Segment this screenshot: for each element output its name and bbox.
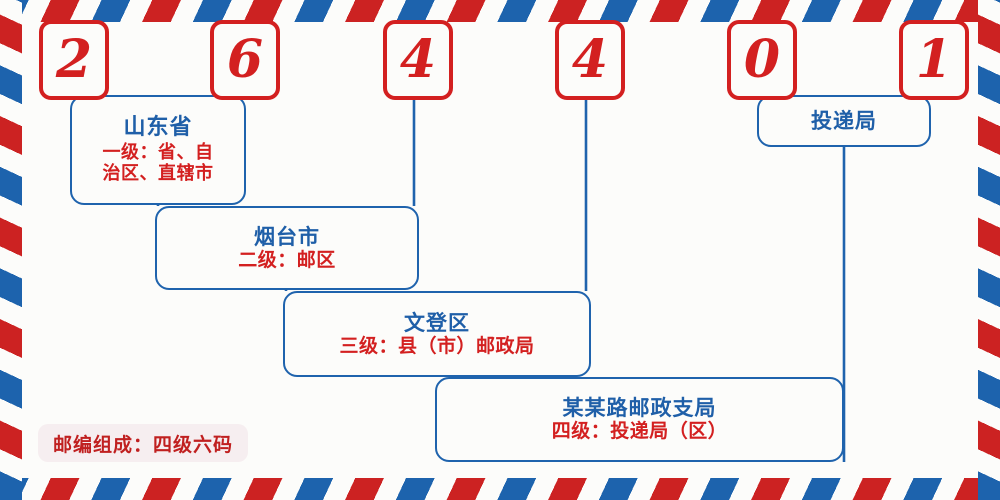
level-3-box: 文登区 三级：县（市）邮政局 (283, 291, 591, 377)
postcode-digit-1: 2 (39, 20, 109, 100)
postcode-digit-4: 4 (555, 20, 625, 100)
level-4-place: 某某路邮政支局 (563, 396, 717, 420)
level-2-desc: 二级：邮区 (238, 249, 336, 272)
level-2-place: 烟台市 (254, 225, 320, 249)
postcode-digit-2: 6 (210, 20, 280, 100)
delivery-office-label: 投递局 (811, 109, 877, 133)
level-1-place: 山东省 (123, 115, 192, 140)
level-3-place: 文登区 (404, 311, 470, 335)
postcode-digit-3: 4 (383, 20, 453, 100)
level-1-desc-line1: 一级：省、自 (103, 142, 214, 164)
level-1-desc-line2: 治区、直辖市 (103, 163, 214, 185)
footer-note: 邮编组成：四级六码 (38, 424, 248, 462)
level-2-box: 烟台市 二级：邮区 (155, 206, 419, 290)
level-1-box: 山东省 一级：省、自 治区、直辖市 (70, 95, 246, 205)
postcode-digit-5: 0 (727, 20, 797, 100)
level-4-desc: 四级：投递局（区） (552, 420, 728, 443)
postcode-digit-6: 1 (899, 20, 969, 100)
delivery-office-box: 投递局 (757, 95, 931, 147)
level-3-desc: 三级：县（市）邮政局 (339, 335, 534, 358)
postcode-diagram: 2 6 4 4 0 1 山东省 一级：省、自 治区、直辖市 烟台市 二级：邮区 … (0, 0, 1000, 500)
level-4-box: 某某路邮政支局 四级：投递局（区） (435, 377, 844, 462)
